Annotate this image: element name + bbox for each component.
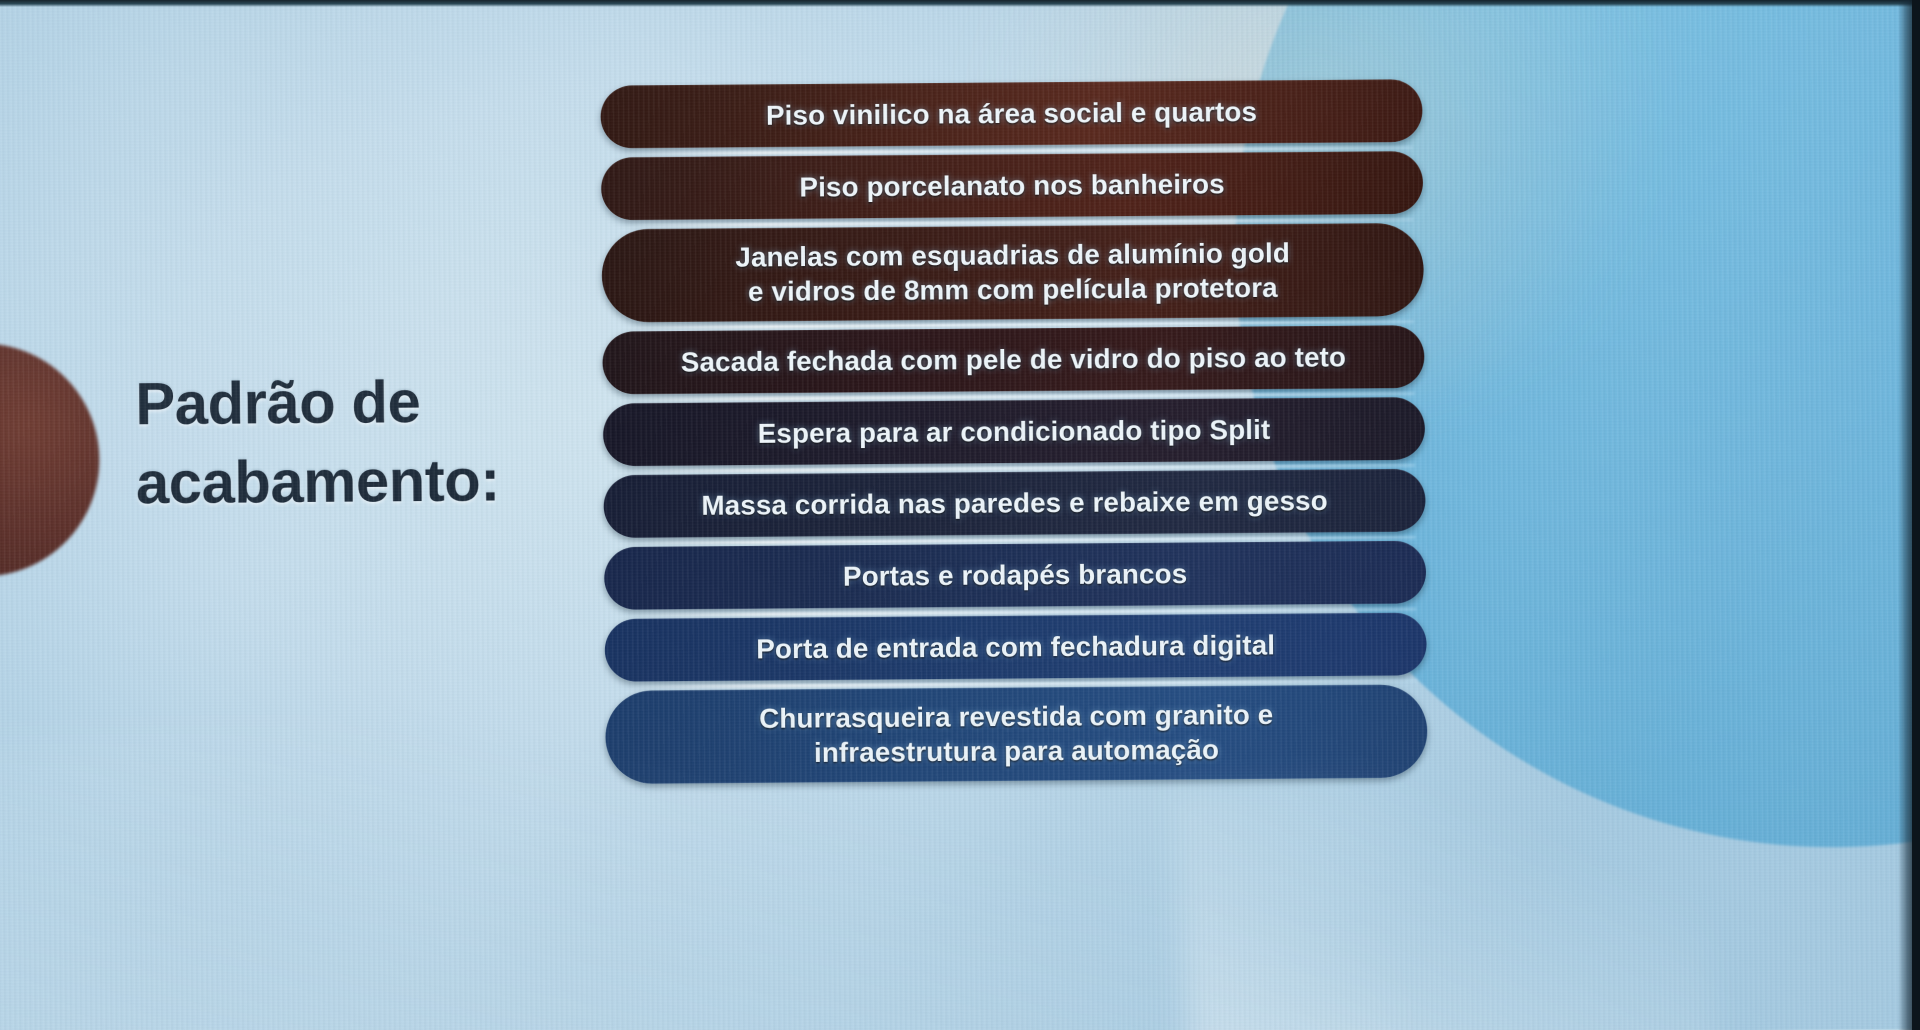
- list-item-label: Sacada fechada com pele de vidro do piso…: [681, 340, 1346, 379]
- list-item: Porta de entrada com fechadura digital: [605, 613, 1427, 682]
- list-item-label: Piso porcelanato nos banheiros: [799, 167, 1224, 204]
- list-item: Churrasqueira revestida com granito e in…: [605, 684, 1427, 784]
- list-item: Janelas com esquadrias de alumínio gold …: [602, 223, 1424, 323]
- display-bezel-right-inner: [1912, 0, 1920, 1030]
- list-item-label: Churrasqueira revestida com granito e in…: [759, 698, 1274, 770]
- list-item: Piso vinilico na área social e quartos: [600, 79, 1422, 148]
- page-title: Padrão de acabamento:: [135, 361, 612, 524]
- page-title-line-2: acabamento:: [136, 440, 612, 523]
- list-item: Massa corrida nas paredes e rebaixe em g…: [603, 469, 1425, 538]
- list-item: Portas e rodapés brancos: [604, 541, 1426, 610]
- list-item-label: Portas e rodapés brancos: [843, 557, 1188, 594]
- list-item-label: Massa corrida nas paredes e rebaixe em g…: [701, 484, 1328, 523]
- finishing-standard-list: Piso vinilico na área social e quartos P…: [600, 79, 1427, 793]
- list-item-label: Piso vinilico na área social e quartos: [766, 95, 1257, 133]
- list-item: Sacada fechada com pele de vidro do piso…: [602, 325, 1424, 394]
- list-item-label: Porta de entrada com fechadura digital: [756, 628, 1275, 666]
- slide-canvas: Padrão de acabamento: Piso vinilico na á…: [0, 0, 1920, 1030]
- photographed-slide-screen: Padrão de acabamento: Piso vinilico na á…: [0, 0, 1920, 1030]
- display-edge-top: [0, 0, 1920, 7]
- page-title-line-1: Padrão de: [135, 361, 611, 444]
- list-item: Espera para ar condicionado tipo Split: [603, 397, 1425, 466]
- list-item-label: Espera para ar condicionado tipo Split: [758, 413, 1271, 451]
- list-item-label: Janelas com esquadrias de alumínio gold …: [735, 237, 1290, 309]
- list-item: Piso porcelanato nos banheiros: [601, 151, 1423, 220]
